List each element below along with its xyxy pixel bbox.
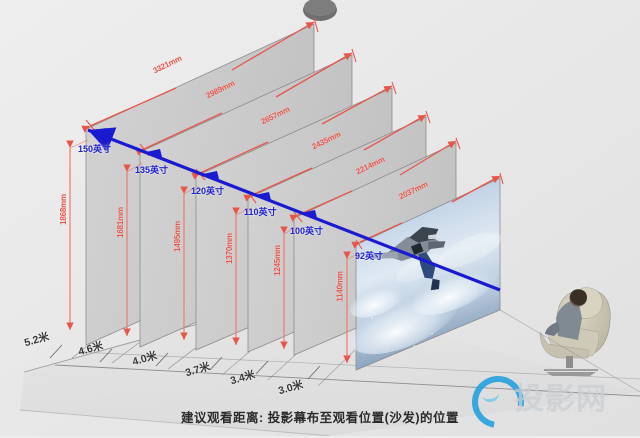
viewer-armchair	[540, 288, 610, 376]
watermark-sub: TOUYING.COM	[516, 408, 597, 414]
watermark: 投影网 TOUYING.COM	[470, 370, 630, 432]
ceiling-projector-icon	[303, 0, 337, 21]
diagram-canvas: 3321mm 2989mm 2657mm 2435mm 2214mm 2037m…	[0, 0, 640, 436]
